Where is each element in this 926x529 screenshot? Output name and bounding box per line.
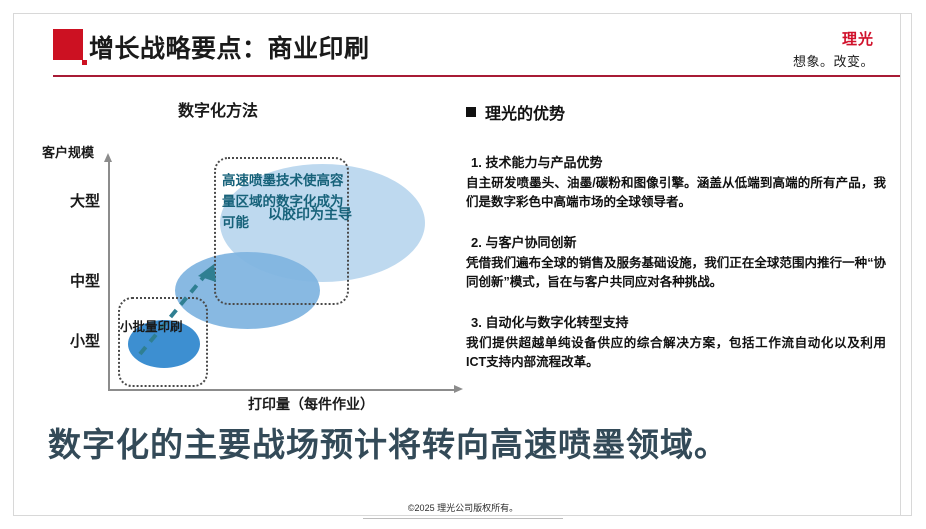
advantage-item: 3. 自动化与数字化转型支持 我们提供超越单纯设备供应的综合解决方案，包括工作流…	[466, 312, 886, 371]
advantages-heading-label: 理光的优势	[485, 100, 565, 124]
advantage-title: 2. 与客户协同创新	[471, 232, 886, 251]
bubble-label-short-run: 小批量印刷	[120, 316, 183, 335]
advantage-item: 2. 与客户协同创新 凭借我们遍布全球的销售及服务基础设施，我们正在全球范围内推…	[466, 232, 886, 291]
y-tick-small: 小型	[38, 330, 100, 351]
y-tick-large: 大型	[38, 190, 100, 211]
advantages-panel: 理光的优势 1. 技术能力与产品优势 自主研发喷墨头、油墨/碳粉和图像引擎。涵盖…	[466, 100, 886, 392]
advantage-body: 我们提供超越单纯设备供应的综合解决方案，包括工作流自动化以及利用ICT支持内部流…	[466, 334, 886, 371]
right-divider	[900, 14, 901, 515]
advantage-title: 1. 技术能力与产品优势	[471, 152, 886, 171]
brand-logo: 理光	[842, 28, 874, 49]
advantage-body: 自主研发喷墨头、油墨/碳粉和图像引擎。涵盖从低端到高端的所有产品，我们是数字彩色…	[466, 174, 886, 211]
advantage-item: 1. 技术能力与产品优势 自主研发喷墨头、油墨/碳粉和图像引擎。涵盖从低端到高端…	[466, 152, 886, 211]
chart-title: 数字化方法	[178, 97, 258, 121]
callout-text-high-volume: 高速喷墨技术使高容量区域的数字化成为可能	[222, 170, 344, 233]
x-axis-label: 打印量（每件作业）	[248, 394, 374, 414]
brand-tagline: 想象。改变。	[793, 51, 874, 70]
x-axis-arrow-icon	[454, 385, 463, 393]
advantage-title: 3. 自动化与数字化转型支持	[471, 312, 886, 331]
header-divider	[53, 75, 900, 77]
y-axis-line	[108, 160, 110, 390]
y-axis-label: 客户规模	[42, 142, 94, 161]
page-title: 增长战略要点：商业印刷	[89, 29, 370, 65]
advantages-heading: 理光的优势	[466, 100, 886, 124]
copyright-text: ©2025 理光公司版权所有。	[363, 501, 563, 519]
title-marker-icon	[53, 29, 83, 60]
advantage-body: 凭借我们遍布全球的销售及服务基础设施，我们正在全球范围内推行一种“协同创新”模式…	[466, 254, 886, 291]
x-axis-line	[108, 389, 456, 391]
bullet-square-icon	[466, 107, 476, 117]
callout-box-short-run	[118, 297, 208, 387]
key-message-headline: 数字化的主要战场预计将转向高速喷墨领域。	[48, 418, 728, 466]
slide-canvas: 增长战略要点：商业印刷 理光 想象。改变。 数字化方法 客户规模 打印量（每件作…	[0, 0, 926, 529]
slide-footer: ©2025 理光公司版权所有。	[0, 498, 926, 519]
digitalization-chart: 数字化方法 客户规模 打印量（每件作业） 大型 中型 小型 以胶印为主导 高速喷…	[30, 92, 460, 412]
y-tick-medium: 中型	[38, 270, 100, 291]
